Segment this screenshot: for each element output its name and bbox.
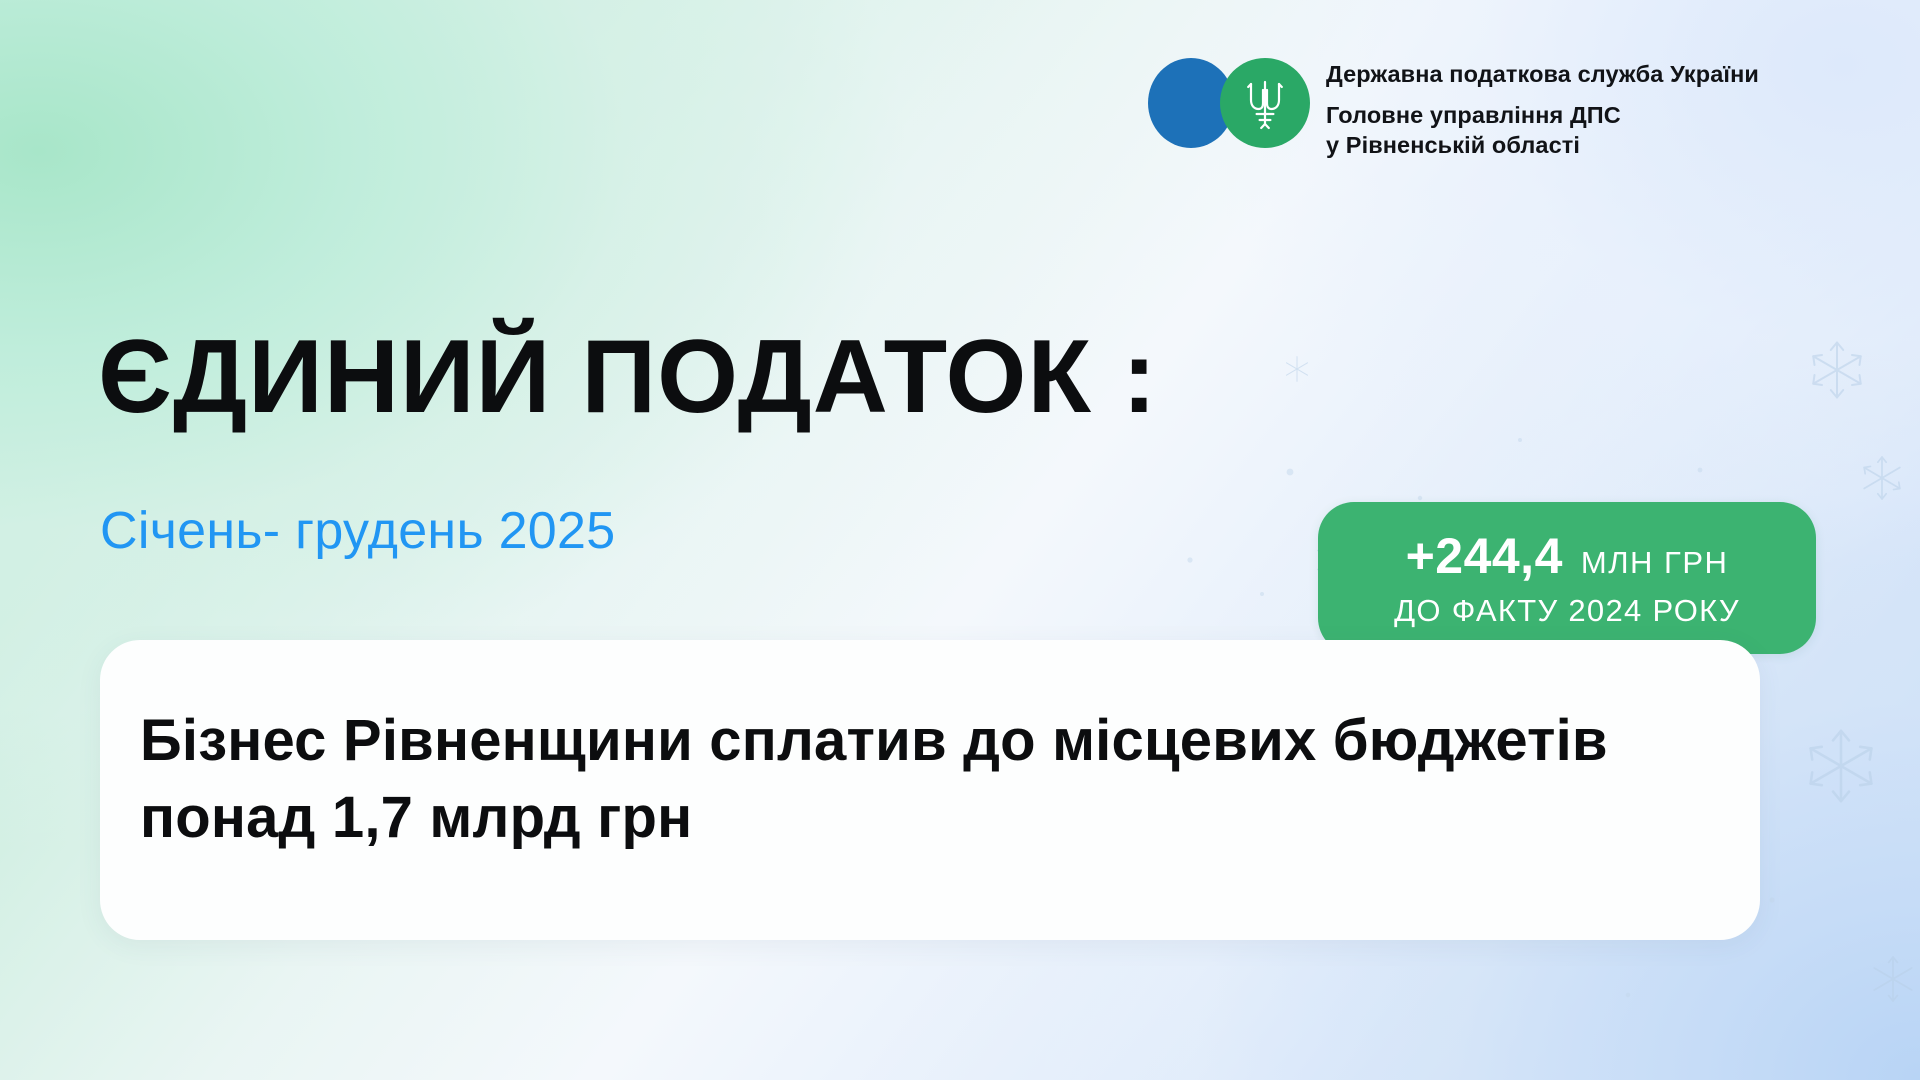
statement-text: Бізнес Рівненщини сплатив до місцевих бю… (140, 702, 1734, 856)
org-line-1: Державна податкова служба України (1326, 59, 1759, 90)
ukraine-trident-icon (1245, 76, 1285, 130)
org-line-3: у Рівненській області (1326, 130, 1759, 161)
statement-card: Бізнес Рівненщини сплатив до місцевих бю… (100, 640, 1760, 940)
dps-logo-block: Державна податкова служба України Головн… (1148, 50, 1759, 161)
growth-badge-primary-row: +244,4 МЛН ГРН (1406, 531, 1729, 581)
reporting-period: Січень- грудень 2025 (100, 505, 615, 557)
infographic-poster: Державна податкова служба України Головн… (0, 0, 1920, 1080)
organisation-name: Державна податкова служба України Головн… (1326, 50, 1759, 161)
growth-badge: +244,4 МЛН ГРН ДО ФАКТУ 2024 РОКУ (1318, 502, 1816, 654)
growth-comparison: ДО ФАКТУ 2024 РОКУ (1394, 595, 1740, 626)
org-line-2: Головне управління ДПС (1326, 100, 1759, 131)
logo-green-circle-icon (1220, 58, 1310, 148)
page-title: ЄДИНИЙ ПОДАТОК : (98, 325, 1157, 429)
growth-unit: МЛН ГРН (1581, 547, 1729, 578)
logo-marks (1148, 50, 1310, 148)
growth-amount: +244,4 (1406, 531, 1563, 581)
